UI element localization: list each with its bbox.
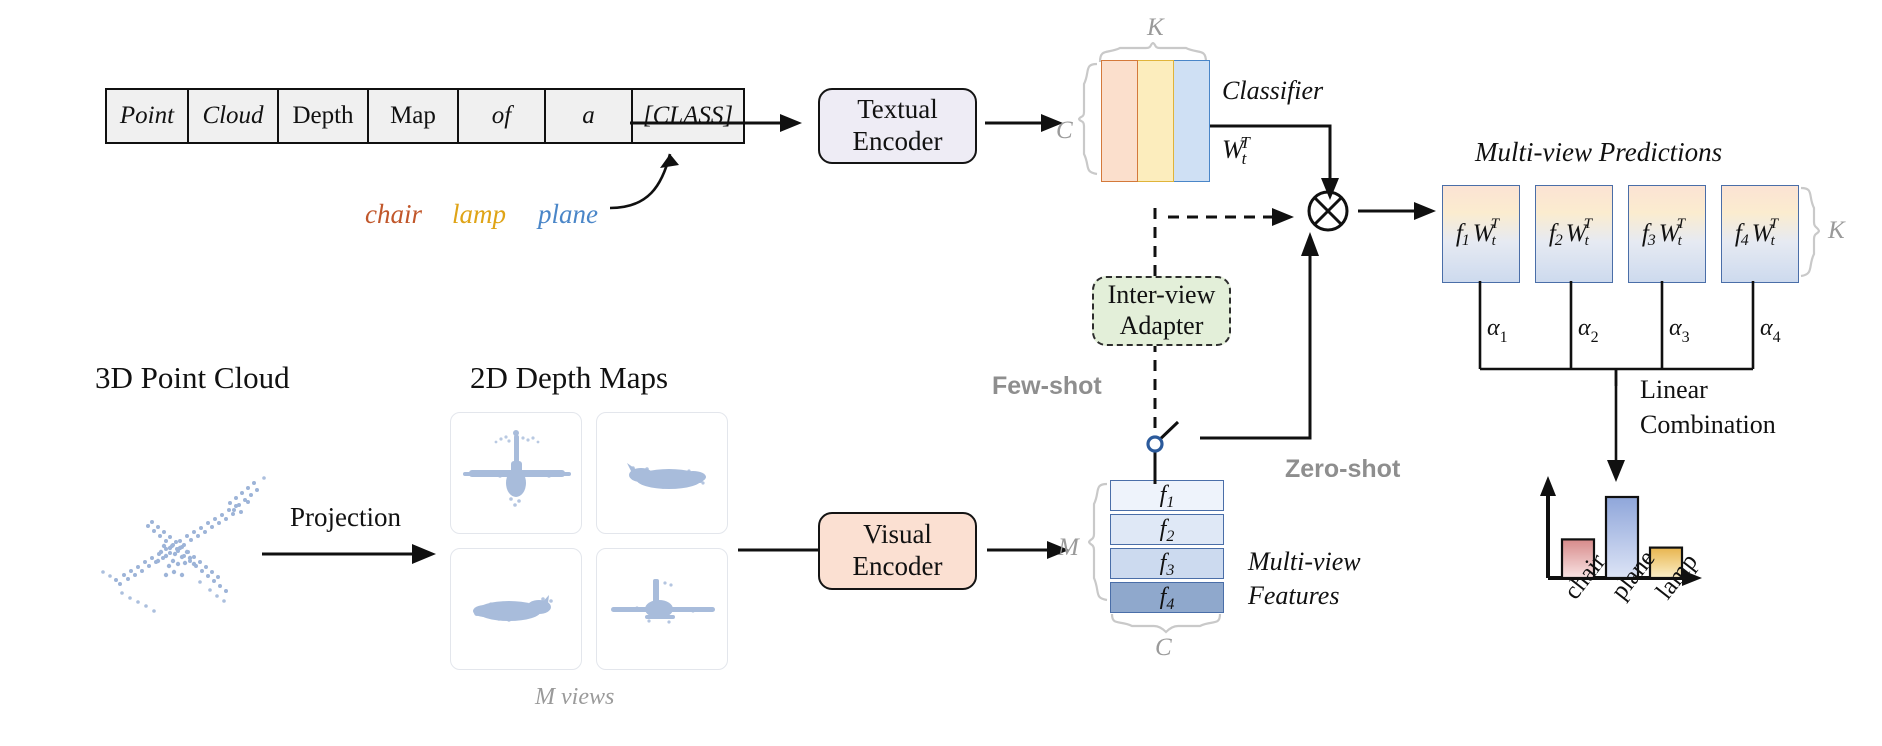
predictions-title: Multi-view Predictions xyxy=(1475,137,1722,168)
prompt-token-cloud: Cloud xyxy=(189,90,279,142)
depth-map-tile-side-left xyxy=(450,548,582,670)
pred-1-wsup: T xyxy=(1491,216,1499,233)
few-shot-label: Few-shot xyxy=(992,372,1102,401)
classifier-left-brace xyxy=(1078,62,1100,187)
alpha-label-4: α4 xyxy=(1760,315,1781,342)
pred-1-wsub: t xyxy=(1492,233,1496,250)
prediction-box-1: f1WtT xyxy=(1442,185,1520,283)
arrow-to-final-chart xyxy=(1600,370,1632,485)
pred-2-sub: 2 xyxy=(1555,232,1563,250)
classifier-matrix xyxy=(1101,60,1210,182)
zero-shot-path xyxy=(1180,230,1340,450)
prediction-box-4: f4WtT xyxy=(1721,185,1799,283)
predictions-right-brace xyxy=(1798,186,1820,282)
prompt-token-point: Point xyxy=(107,90,189,142)
prompt-token-map: Map xyxy=(369,90,459,142)
pred-3-wsup: T xyxy=(1677,216,1685,233)
linear-combination-line1: Linear xyxy=(1640,372,1776,407)
alpha-label-1: α1 xyxy=(1487,315,1508,342)
classifier-k-label: K xyxy=(1147,14,1164,42)
features-to-switch-line xyxy=(1150,462,1162,484)
depth-map-grid xyxy=(450,412,728,670)
class-word-lamp: lamp xyxy=(452,199,506,230)
classifier-column-1 xyxy=(1101,60,1138,182)
linear-combination-caption: Linear Combination xyxy=(1640,372,1776,442)
arrow-prompt-to-textual-encoder xyxy=(630,108,820,138)
pred-4-wsub: t xyxy=(1771,233,1775,250)
classifier-caption: Classifier xyxy=(1222,76,1323,106)
alpha-label-2: α2 xyxy=(1578,315,1599,342)
point-cloud-heading: 3D Point Cloud xyxy=(95,360,290,396)
pred-3-sub: 3 xyxy=(1648,232,1656,250)
class-word-chair: chair xyxy=(365,199,422,230)
classifier-column-2 xyxy=(1138,60,1174,182)
multi-view-features-stack: f1 f2 f3 f4 xyxy=(1110,480,1224,613)
textual-encoder-box: Textual Encoder xyxy=(818,88,977,164)
predictions-k-label: K xyxy=(1828,217,1845,245)
pred-3-wsub: t xyxy=(1678,233,1682,250)
features-bottom-brace xyxy=(1110,612,1222,634)
textual-encoder-line2: Encoder xyxy=(853,126,943,158)
pred-4-sub: 4 xyxy=(1741,232,1749,250)
feature-row-f1: f1 xyxy=(1110,480,1224,511)
arrow-operator-to-predictions xyxy=(1358,196,1448,226)
depth-map-tile-side-right xyxy=(596,412,728,534)
otimes-icon xyxy=(1306,189,1350,233)
visual-encoder-box: Visual Encoder xyxy=(818,512,977,590)
features-caption-line1: Multi-view xyxy=(1248,545,1361,579)
depth-map-tile-front xyxy=(450,412,582,534)
pred-4-wsup: T xyxy=(1770,216,1778,233)
feature-row-f3: f3 xyxy=(1110,548,1224,579)
feature-row-f4: f4 xyxy=(1110,582,1224,613)
multi-view-features-caption: Multi-view Features xyxy=(1248,545,1361,613)
alpha-label-3: α3 xyxy=(1669,315,1690,342)
classifier-column-3 xyxy=(1174,60,1210,182)
point-cloud-render xyxy=(70,430,300,630)
textual-encoder-line1: Textual xyxy=(857,94,938,126)
m-views-label: M views xyxy=(535,684,614,711)
predictions-row: f1WtT f2WtT f3WtT f4WtT xyxy=(1442,185,1799,283)
zero-shot-label: Zero-shot xyxy=(1285,455,1400,484)
prompt-token-of: of xyxy=(459,90,546,142)
arrow-projection xyxy=(262,540,447,570)
prediction-box-3: f3WtT xyxy=(1628,185,1706,283)
linear-combination-line2: Combination xyxy=(1640,407,1776,442)
pred-2-wsup: T xyxy=(1584,216,1592,233)
features-c-label: C xyxy=(1155,634,1172,662)
prediction-box-2: f2WtT xyxy=(1535,185,1613,283)
depth-map-tile-top xyxy=(596,548,728,670)
adapter-to-operator-dashed-arrow xyxy=(1168,202,1308,232)
prompt-token-depth: Depth xyxy=(279,90,369,142)
visual-encoder-line2: Encoder xyxy=(853,551,943,583)
projection-label: Projection xyxy=(290,502,401,533)
visual-encoder-line1: Visual xyxy=(863,519,932,551)
classifier-c-label: C xyxy=(1056,117,1073,145)
features-m-label: M xyxy=(1058,534,1079,562)
pred-2-wsub: t xyxy=(1585,233,1589,250)
features-left-brace xyxy=(1088,482,1110,612)
feature-row-f2: f2 xyxy=(1110,514,1224,545)
depth-maps-heading: 2D Depth Maps xyxy=(470,360,668,396)
features-caption-line2: Features xyxy=(1248,579,1361,613)
pred-1-sub: 1 xyxy=(1462,232,1470,250)
class-word-plane: plane xyxy=(538,199,598,230)
